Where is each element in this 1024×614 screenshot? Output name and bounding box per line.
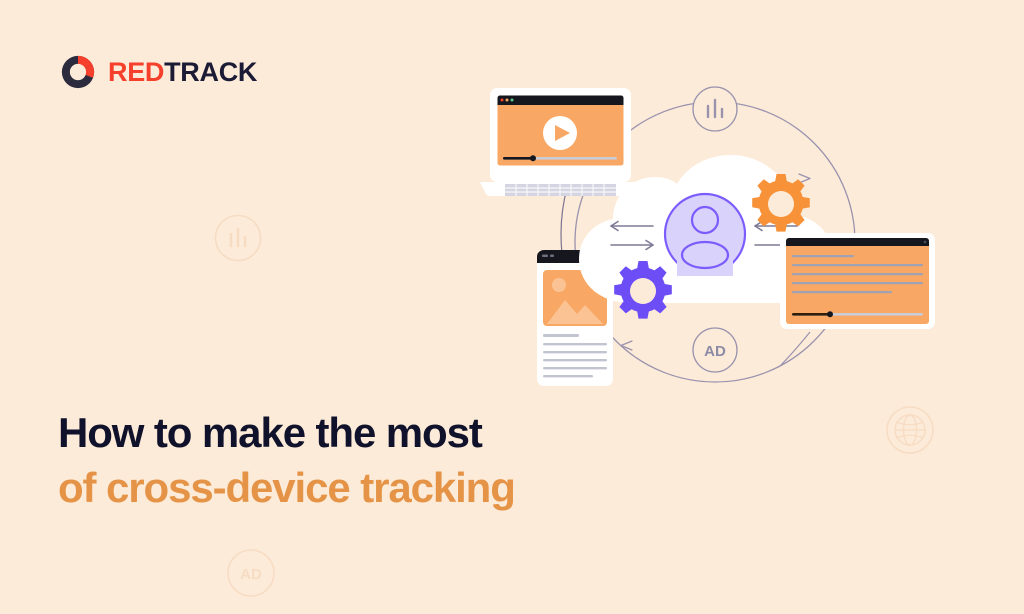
headline-line-2: of cross-device tracking bbox=[58, 463, 515, 512]
redtrack-donut-icon bbox=[59, 53, 97, 91]
gear-purple bbox=[612, 260, 674, 322]
hero-illustration: AD bbox=[470, 70, 970, 415]
user-avatar-icon bbox=[665, 194, 745, 276]
analytics-badge bbox=[693, 87, 737, 131]
gear-orange bbox=[750, 173, 812, 235]
orbit-arrowhead-bottom bbox=[621, 341, 632, 350]
wordmark-track: TRACK bbox=[164, 57, 257, 87]
ad-badge-label: AD bbox=[704, 343, 726, 360]
brand-logo[interactable]: REDTRACK bbox=[59, 53, 257, 91]
banner-canvas: AD REDTRACK How to make the most of cros… bbox=[0, 0, 1024, 614]
browser-window-article bbox=[780, 233, 935, 329]
svg-text:AD: AD bbox=[240, 566, 262, 583]
ad-badge: AD bbox=[693, 328, 737, 372]
page-title: How to make the most of cross-device tra… bbox=[58, 408, 515, 512]
watermark-bar-chart bbox=[214, 214, 262, 262]
headline-line-1: How to make the most bbox=[58, 408, 515, 457]
brand-wordmark: REDTRACK bbox=[108, 59, 257, 86]
watermark-ad: AD bbox=[226, 548, 276, 598]
wordmark-red: RED bbox=[108, 57, 164, 87]
